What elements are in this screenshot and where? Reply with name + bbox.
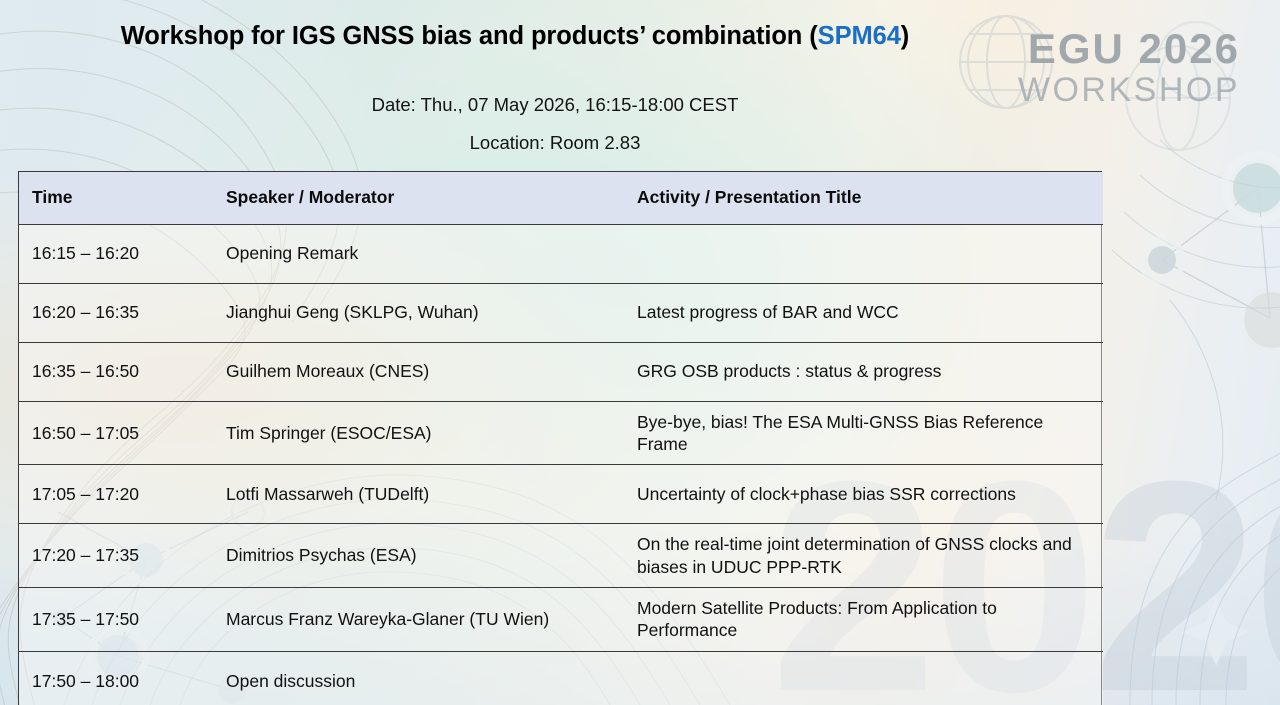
logo-title: EGU 2026 [1018, 28, 1240, 70]
table-row: 16:20 – 16:35Jianghui Geng (SKLPG, Wuhan… [19, 283, 1103, 342]
slide-canvas: 2026 [0, 0, 1280, 705]
cell-activity: Uncertainty of clock+phase bias SSR corr… [620, 465, 1103, 524]
table-row: 17:50 – 18:00Open discussion [19, 651, 1103, 705]
session-code: SPM64 [818, 22, 901, 50]
cell-time: 16:20 – 16:35 [19, 283, 210, 342]
event-location: Location: Room 2.83 [0, 132, 1110, 154]
cell-speaker: Opening Remark [210, 224, 620, 283]
cell-activity: Latest progress of BAR and WCC [620, 283, 1103, 342]
page-title-close: ) [901, 22, 909, 50]
cell-activity: On the real-time joint determination of … [620, 524, 1103, 588]
cell-speaker: Guilhem Moreaux (CNES) [210, 342, 620, 401]
table-row: 16:15 – 16:20Opening Remark [19, 224, 1103, 283]
cell-speaker: Dimitrios Psychas (ESA) [210, 524, 620, 588]
cell-time: 16:35 – 16:50 [19, 342, 210, 401]
cell-activity: Modern Satellite Products: From Applicat… [620, 588, 1103, 652]
column-header-activity: Activity / Presentation Title [620, 172, 1103, 224]
cell-speaker: Marcus Franz Wareyka-Glaner (TU Wien) [210, 588, 620, 652]
table-row: 17:20 – 17:35Dimitrios Psychas (ESA)On t… [19, 524, 1103, 588]
cell-speaker: Tim Springer (ESOC/ESA) [210, 401, 620, 465]
cell-activity [620, 224, 1103, 283]
cell-time: 17:05 – 17:20 [19, 465, 210, 524]
cell-time: 16:50 – 17:05 [19, 401, 210, 465]
event-date: Date: Thu., 07 May 2026, 16:15-18:00 CES… [0, 94, 1110, 116]
table-header-row: Time Speaker / Moderator Activity / Pres… [19, 172, 1103, 224]
column-header-time: Time [19, 172, 210, 224]
cell-time: 16:15 – 16:20 [19, 224, 210, 283]
cell-activity: GRG OSB products : status & progress [620, 342, 1103, 401]
cell-time: 17:50 – 18:00 [19, 651, 210, 705]
cell-speaker: Open discussion [210, 651, 620, 705]
cell-speaker: Lotfi Massarweh (TUDelft) [210, 465, 620, 524]
table-row: 17:35 – 17:50Marcus Franz Wareyka-Glaner… [19, 588, 1103, 652]
page-title-main: Workshop for IGS GNSS bias and products’… [121, 22, 818, 50]
cell-speaker: Jianghui Geng (SKLPG, Wuhan) [210, 283, 620, 342]
table-row: 17:05 – 17:20Lotfi Massarweh (TUDelft)Un… [19, 465, 1103, 524]
column-header-speaker: Speaker / Moderator [210, 172, 620, 224]
cell-time: 17:35 – 17:50 [19, 588, 210, 652]
table-header: Time Speaker / Moderator Activity / Pres… [19, 172, 1103, 224]
cell-activity: Bye-bye, bias! The ESA Multi-GNSS Bias R… [620, 401, 1103, 465]
agenda-table: Time Speaker / Moderator Activity / Pres… [18, 171, 1102, 705]
table-row: 16:50 – 17:05Tim Springer (ESOC/ESA)Bye-… [19, 401, 1103, 465]
table-body: 16:15 – 16:20Opening Remark16:20 – 16:35… [19, 224, 1103, 705]
table-row: 16:35 – 16:50Guilhem Moreaux (CNES)GRG O… [19, 342, 1103, 401]
page-title: Workshop for IGS GNSS bias and products’… [0, 22, 1030, 51]
cell-time: 17:20 – 17:35 [19, 524, 210, 588]
cell-activity [620, 651, 1103, 705]
